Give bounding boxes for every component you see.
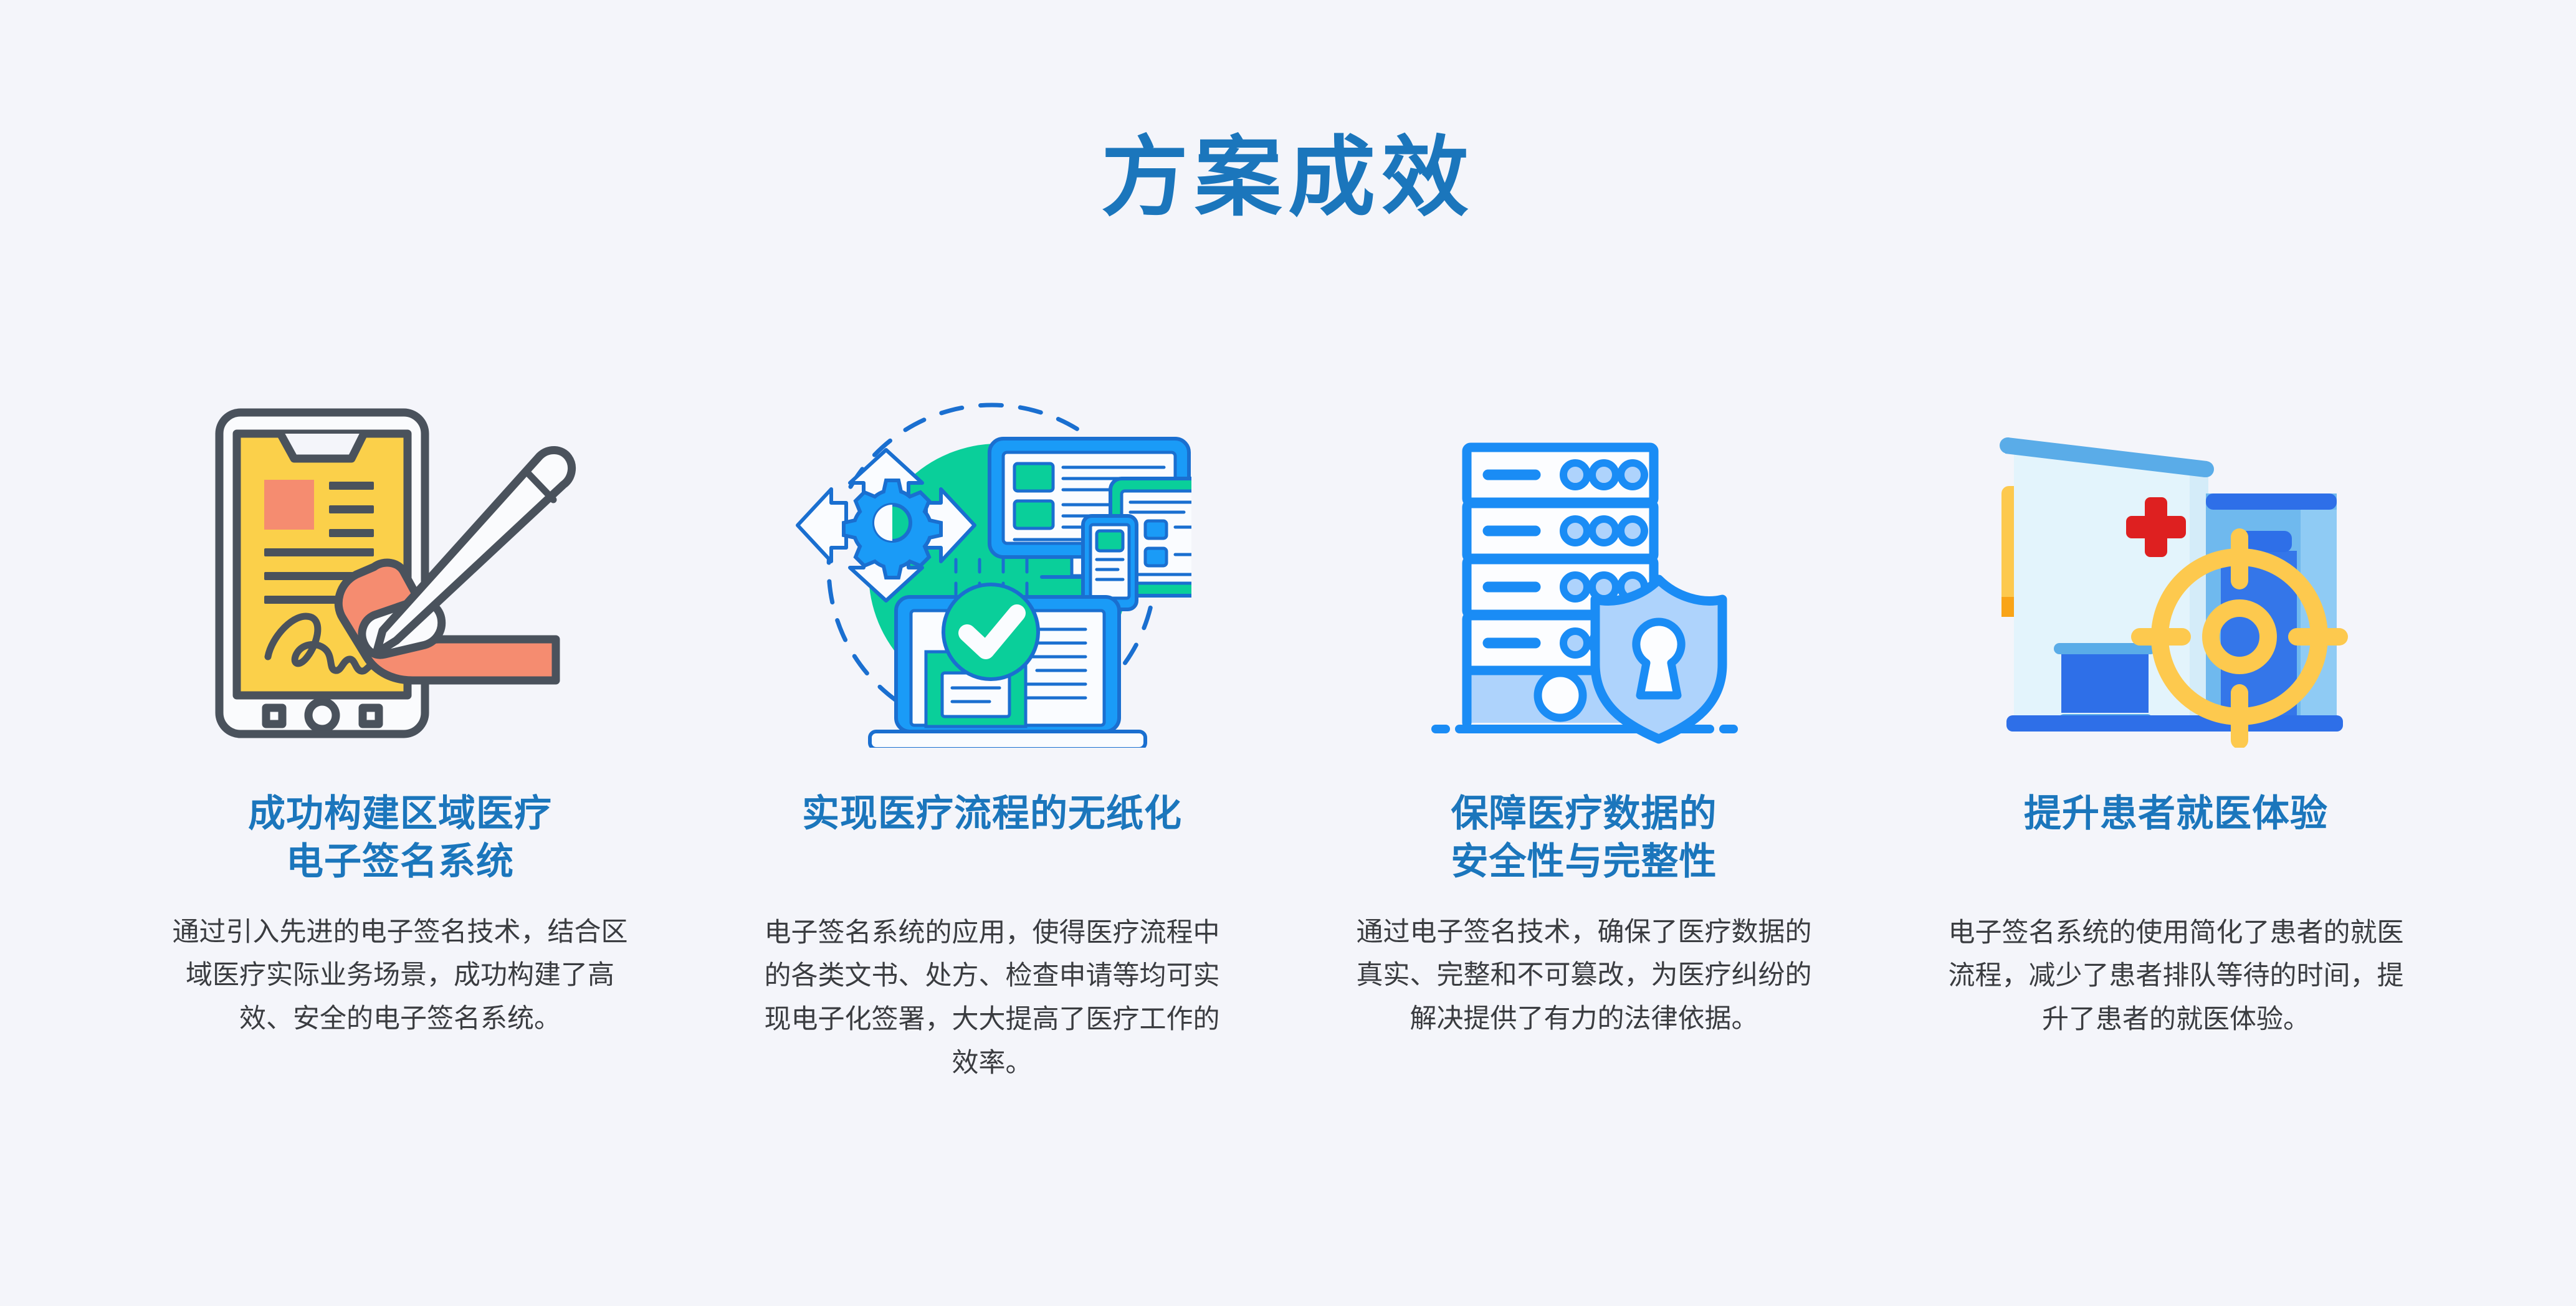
benefit-card-2: 实现医疗流程的无纸化 电子签名系统的应用，使得医疗流程中的各类文书、处方、检查申… <box>696 386 1288 1085</box>
card-title-line-1: 提升患者就医体验 <box>1927 790 2425 838</box>
card-title: 实现医疗流程的无纸化 <box>743 790 1241 838</box>
card-title-line-2: 安全性与完整性 <box>1335 838 1833 886</box>
poster-root: 方案成效 <box>0 0 2576 1306</box>
card-title-line-1: 成功构建区域医疗 <box>151 790 649 838</box>
benefit-card-3: 保障医疗数据的 安全性与完整性 通过电子签名技术，确保了医疗数据的真实、完整和不… <box>1288 386 1880 1041</box>
card-title-line-2: 电子签名系统 <box>151 838 649 886</box>
card-description: 通过引入先进的电子签名技术，结合区域医疗实际业务场景，成功构建了高效、安全的电子… <box>160 911 640 1041</box>
card-title-line-1: 保障医疗数据的 <box>1335 790 1833 838</box>
card-title-line-1: 实现医疗流程的无纸化 <box>743 790 1241 838</box>
card-description: 电子签名系统的应用，使得医疗流程中的各类文书、处方、检查申请等均可实现电子化签署… <box>752 912 1232 1085</box>
card-title: 提升患者就医体验 <box>1927 790 2425 838</box>
benefit-card-1: 成功构建区域医疗 电子签名系统 通过引入先进的电子签名技术，结合区域医疗实际业务… <box>104 386 696 1041</box>
page-title: 方案成效 <box>0 134 2576 221</box>
benefit-cards-row: 成功构建区域医疗 电子签名系统 通过引入先进的电子签名技术，结合区域医疗实际业务… <box>0 386 2576 1085</box>
card-description: 电子签名系统的使用简化了患者的就医流程，减少了患者排队等待的时间，提升了患者的就… <box>1936 912 2416 1042</box>
card-title: 成功构建区域医疗 电子签名系统 <box>151 790 649 886</box>
server-shield-security-icon <box>1378 386 1790 760</box>
card-title: 保障医疗数据的 安全性与完整性 <box>1335 790 1833 886</box>
benefit-card-4: 提升患者就医体验 电子签名系统的使用简化了患者的就医流程，减少了患者排队等待的时… <box>1880 386 2472 1042</box>
hospital-target-icon <box>1970 386 2382 760</box>
mobile-signature-icon <box>194 386 606 760</box>
card-description: 通过电子签名技术，确保了医疗数据的真实、完整和不可篡改，为医疗纠纷的解决提供了有… <box>1344 911 1824 1041</box>
paperless-workflow-icon <box>786 386 1198 760</box>
